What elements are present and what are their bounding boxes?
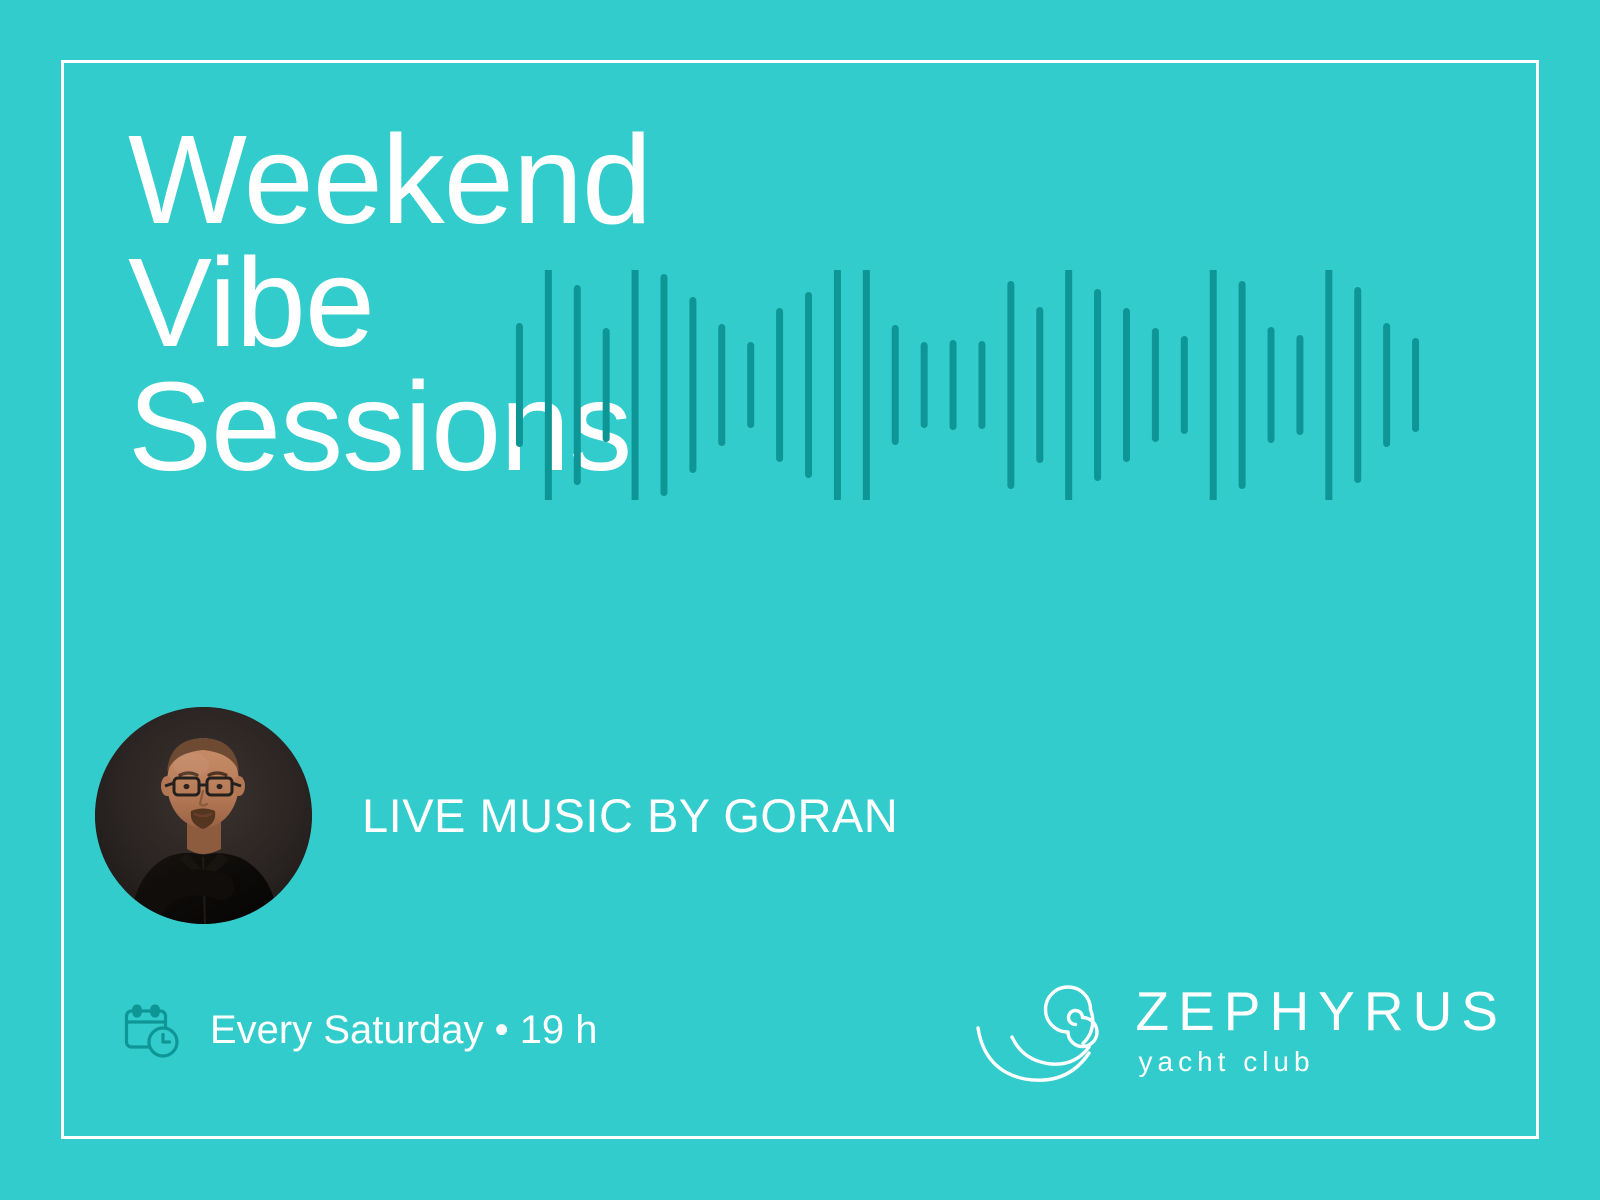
waveform-bar xyxy=(1412,338,1419,432)
waveform-bar xyxy=(1296,335,1303,435)
audio-waveform-graphic xyxy=(505,270,1430,500)
waveform-bar xyxy=(1268,327,1275,443)
waveform-bar xyxy=(1383,323,1390,447)
waveform-bar xyxy=(603,328,610,442)
waveform-bar xyxy=(718,324,725,446)
waveform-bar xyxy=(632,270,639,500)
brand-tagline: yacht club xyxy=(1139,1044,1508,1079)
schedule-block: Every Saturday • 19 h xyxy=(120,995,598,1065)
waveform-bar xyxy=(921,342,928,428)
waveform-bar xyxy=(1152,328,1159,442)
performer-block: LIVE MUSIC BY GORAN xyxy=(95,703,1295,928)
waveform-bar xyxy=(516,323,523,447)
brand-name: ZEPHYRUS xyxy=(1136,983,1508,1041)
waveform-bar xyxy=(689,297,696,473)
waveform-bar xyxy=(1094,289,1101,481)
event-poster: Weekend Vibe Sessions xyxy=(0,0,1600,1200)
waveform-bar xyxy=(863,270,870,500)
waveform-bar xyxy=(776,308,783,462)
waveform-bar xyxy=(1354,287,1361,483)
avatar xyxy=(95,707,312,924)
waveform-bar xyxy=(545,270,552,500)
waveform-icon xyxy=(505,270,1430,500)
title-line-1: Weekend xyxy=(128,118,928,241)
waveform-bar xyxy=(1036,307,1043,463)
brand-wordmark: ZEPHYRUS yacht club xyxy=(1136,983,1508,1080)
waveform-bar xyxy=(892,325,899,445)
brand-logo: ZEPHYRUS yacht club xyxy=(963,975,1508,1087)
waveform-bar xyxy=(1239,281,1246,489)
waveform-bar xyxy=(834,270,841,500)
waveform-bar xyxy=(1325,270,1332,500)
schedule-text: Every Saturday • 19 h xyxy=(210,1008,598,1053)
waveform-bar xyxy=(574,285,581,485)
waveform-bar xyxy=(1123,308,1130,462)
zephyrus-spiral-wave-icon xyxy=(963,979,1108,1084)
waveform-bar xyxy=(1181,336,1188,434)
waveform-bar xyxy=(660,274,667,496)
waveform-bar xyxy=(805,292,812,478)
waveform-bar xyxy=(978,341,985,429)
avatar-portrait-icon xyxy=(95,707,312,924)
waveform-bar xyxy=(950,340,957,430)
waveform-bar xyxy=(1210,270,1217,500)
waveform-bar xyxy=(1007,281,1014,489)
performer-label: LIVE MUSIC BY GORAN xyxy=(362,788,898,843)
waveform-bar xyxy=(747,342,754,428)
waveform-bar xyxy=(1065,270,1072,500)
calendar-clock-icon xyxy=(120,999,182,1061)
